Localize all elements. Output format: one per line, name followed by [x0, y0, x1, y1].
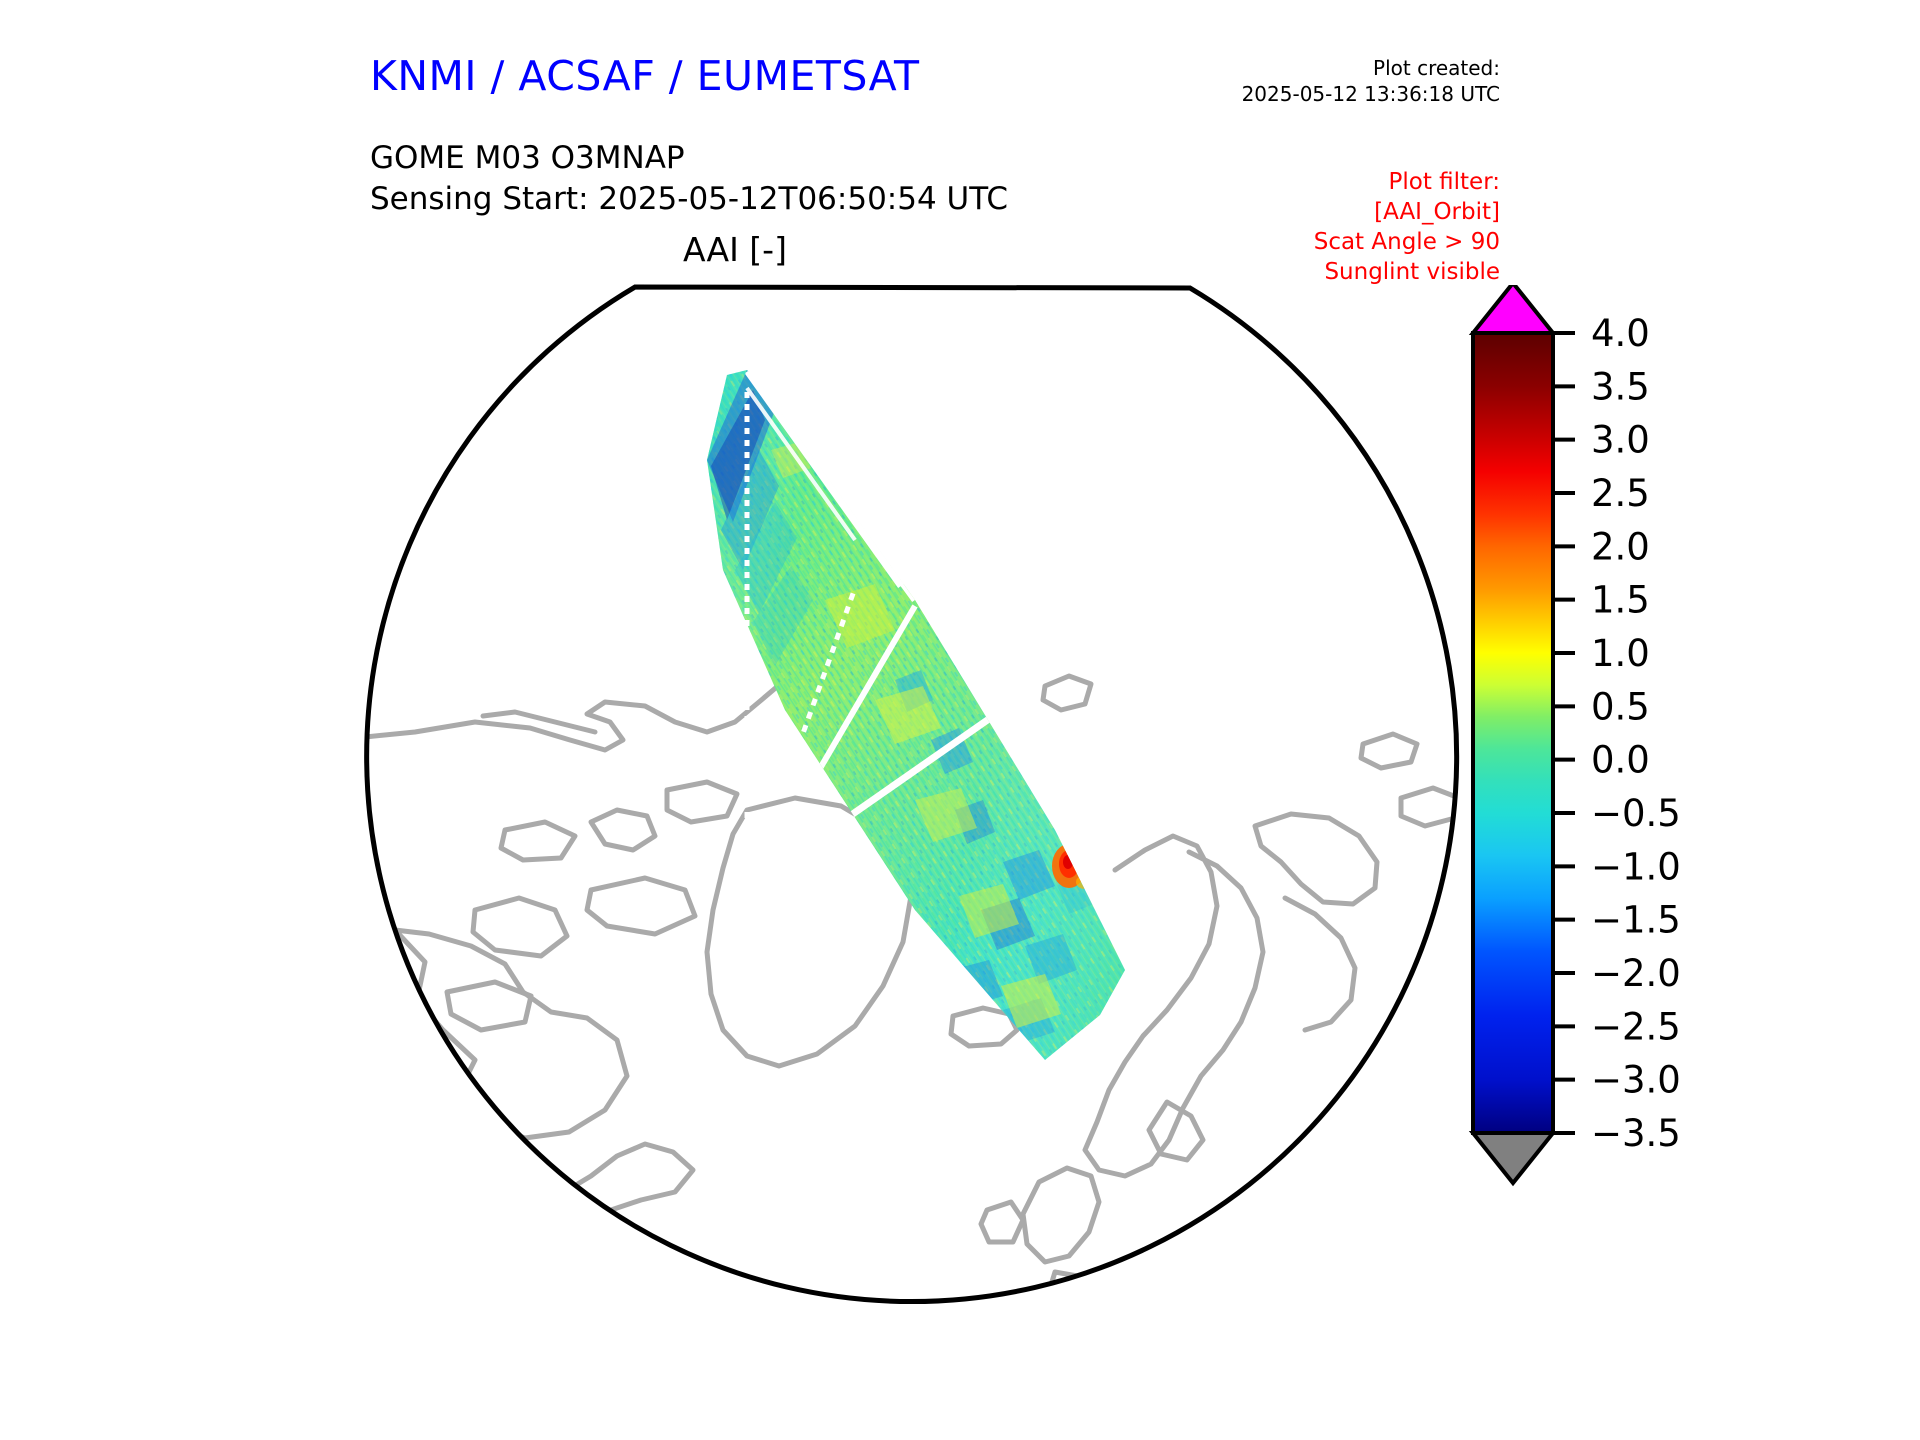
colorbar-tick-label: −1.0	[1591, 845, 1681, 888]
product-info-block: GOME M03 O3MNAP Sensing Start: 2025-05-1…	[370, 138, 1008, 220]
colorbar-tick-labels: 4.03.53.02.52.01.51.00.50.0−0.5−1.0−1.5−…	[1591, 312, 1681, 1155]
colorbar-tick-label: −3.5	[1591, 1112, 1681, 1155]
colorbar-panel: 4.03.53.02.52.01.51.00.50.0−0.5−1.0−1.5−…	[1455, 285, 1875, 1295]
colorbar-tick-label: 0.0	[1591, 739, 1650, 782]
colorbar-tick-label: 2.0	[1591, 525, 1650, 568]
colorbar-tick-label: 2.5	[1591, 472, 1650, 515]
plot-created-timestamp: 2025-05-12 13:36:18 UTC	[1242, 81, 1500, 107]
colorbar-tick-label: −2.0	[1591, 952, 1681, 995]
colorbar-tick-label: 4.0	[1591, 312, 1650, 355]
plot-created-block: Plot created: 2025-05-12 13:36:18 UTC	[1242, 55, 1500, 108]
colorbar-tick-label: −2.5	[1591, 1005, 1681, 1048]
colorbar-tick-label: 3.5	[1591, 365, 1650, 408]
colorbar-canvas: 4.03.53.02.52.01.51.00.50.0−0.5−1.0−1.5−…	[1455, 285, 1875, 1295]
colorbar-over-arrow	[1473, 285, 1553, 333]
colorbar-tick-label: −3.0	[1591, 1059, 1681, 1102]
plot-created-label: Plot created:	[1242, 55, 1500, 81]
axes-title: AAI [-]	[0, 230, 1470, 269]
colorbar-tick-label: −1.5	[1591, 899, 1681, 942]
colorbar-ticks	[1553, 333, 1575, 1133]
colorbar-tick-label: 0.5	[1591, 685, 1650, 728]
colorbar-tick-label: −0.5	[1591, 792, 1681, 835]
colorbar-tick-label: 1.5	[1591, 579, 1650, 622]
colorbar-gradient	[1473, 333, 1553, 1133]
product-sensing-start-line: Sensing Start: 2025-05-12T06:50:54 UTC	[370, 179, 1008, 220]
page-title-organisation: KNMI / ACSAF / EUMETSAT	[370, 52, 920, 100]
plot-filter-name: [AAI_Orbit]	[1314, 198, 1500, 228]
map-canvas	[355, 270, 1475, 1330]
colorbar-tick-label: 3.0	[1591, 419, 1650, 462]
plot-filter-title: Plot filter:	[1314, 168, 1500, 198]
colorbar-tick-label: 1.0	[1591, 632, 1650, 675]
map-panel	[355, 270, 1475, 1330]
colorbar-under-arrow	[1473, 1133, 1553, 1183]
product-instrument-line: GOME M03 O3MNAP	[370, 138, 1008, 179]
